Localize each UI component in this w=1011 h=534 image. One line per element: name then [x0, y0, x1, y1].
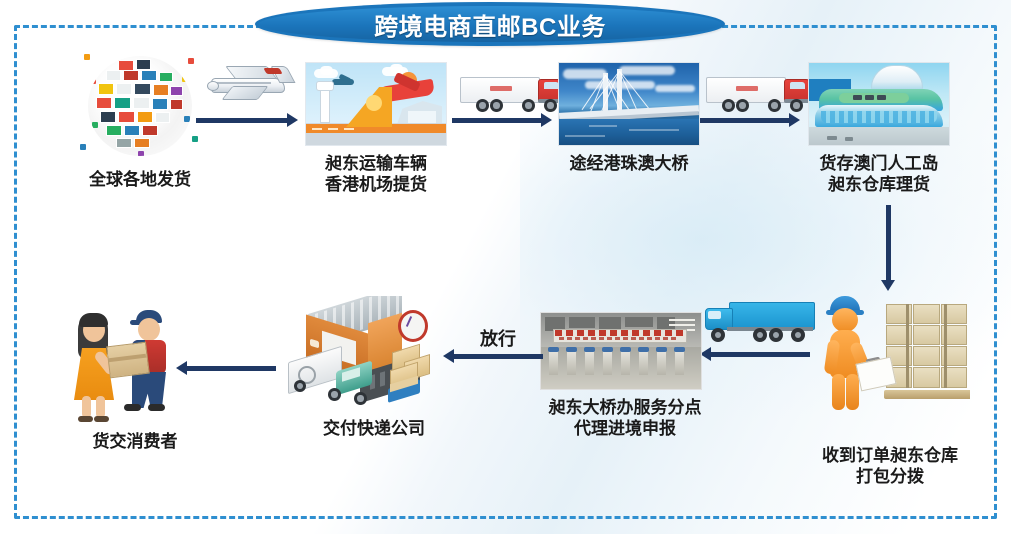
warehouse-delivery-truck-icon [284, 296, 464, 416]
node-caption: 货存澳门人工岛 昶东仓库理货 [808, 153, 950, 196]
title-banner: 跨境电商直邮BC业务 [255, 2, 725, 46]
arrow-global-to-airport [196, 116, 298, 125]
node-caption: 全球各地发货 [70, 169, 210, 190]
courier-handing-parcel-icon [60, 300, 200, 425]
node-caption: 昶东运输车辆 香港机场提货 [305, 153, 447, 196]
airport-illustration-icon [305, 62, 447, 146]
arrow-packing-to-service-point [700, 350, 810, 359]
truck-icon-1 [460, 75, 568, 115]
node-deliver-to-consumer[interactable]: 货交消费者 [60, 300, 210, 452]
diagram-canvas: 跨境电商直邮BC业务 [0, 0, 1011, 534]
arrow-macau-to-packing [884, 205, 893, 291]
bridge-photo-icon [558, 62, 700, 146]
page-title: 跨境电商直邮BC业务 [374, 7, 606, 42]
globe-flags-packages-icon [80, 52, 200, 162]
macau-artificial-island-icon [808, 62, 950, 146]
arrow-airport-to-bridge [452, 116, 552, 125]
node-bridge-service-point[interactable]: 昶东大桥办服务分点 代理进境申报 [540, 312, 710, 440]
node-order-packing[interactable]: 收到订单昶东仓库 打包分拨 [810, 288, 970, 488]
node-caption: 收到订单昶东仓库 打包分拨 [810, 445, 970, 488]
node-macau-warehouse[interactable]: 货存澳门人工岛 昶东仓库理货 [808, 62, 950, 196]
blue-container-truck-icon [705, 300, 815, 346]
airplane-icon [205, 62, 293, 108]
arrow-bridge-to-macau [700, 116, 800, 125]
worker-pallet-icon [810, 288, 970, 438]
node-hzmb-bridge[interactable]: 途经港珠澳大桥 [558, 62, 700, 174]
arrow-label-release: 放行 [480, 325, 516, 351]
truck-icon-2 [706, 75, 814, 115]
node-global-shipping[interactable]: 全球各地发货 [70, 52, 210, 190]
node-caption: 货交消费者 [60, 431, 210, 452]
node-caption: 昶东大桥办服务分点 代理进境申报 [540, 397, 710, 440]
node-hk-airport-pickup[interactable]: 昶东运输车辆 香港机场提货 [305, 62, 447, 196]
node-caption: 交付快递公司 [284, 418, 464, 439]
node-handover-courier[interactable]: 交付快递公司 [284, 296, 464, 439]
node-caption: 途经港珠澳大桥 [558, 153, 700, 174]
border-checkpoint-photo-icon [540, 312, 702, 390]
